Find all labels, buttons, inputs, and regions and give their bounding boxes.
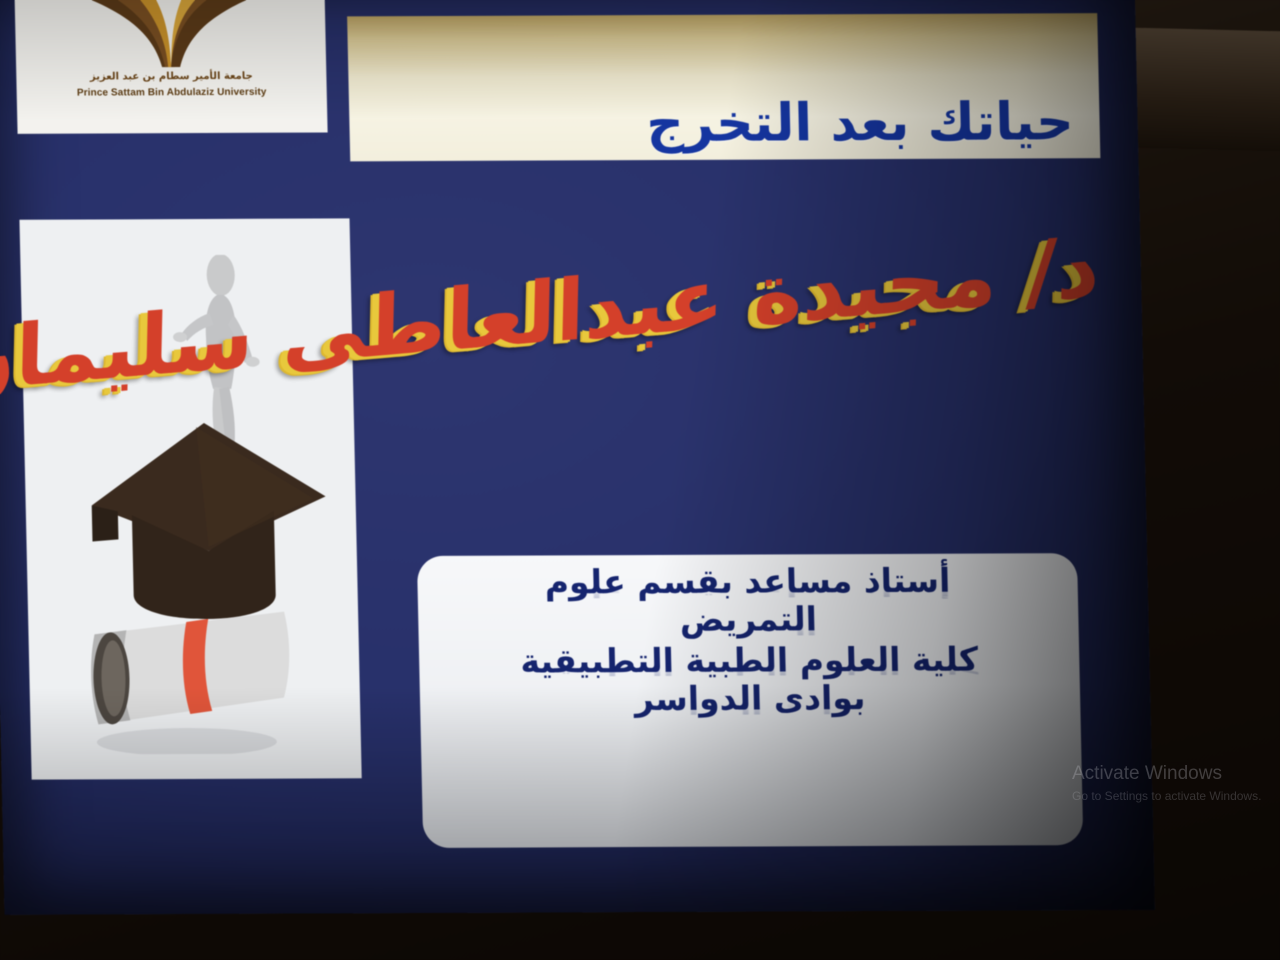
logo-arabic-name: جامعة الأمير سطام بن عبد العزيز	[16, 70, 326, 82]
fan-book-icon	[14, 0, 326, 68]
diploma-scroll-icon	[57, 573, 331, 754]
university-logo: جامعة الأمير سطام بن عبد العزيز Prince S…	[14, 0, 328, 134]
title-banner: حياتك بعد التخرج	[347, 13, 1100, 161]
logo-english-name: Prince Sattam Bin Abdulaziz University	[17, 86, 327, 98]
info-line-location: بوادى الدواسر	[442, 680, 1059, 717]
slide-title: حياتك بعد التخرج	[646, 92, 1075, 154]
slide-transform-wrapper: جامعة الأمير سطام بن عبد العزيز Prince S…	[0, 0, 1155, 930]
info-line-college: كلية العلوم الطبية التطبيقية	[441, 642, 1058, 679]
projected-slide-photo: جامعة الأمير سطام بن عبد العزيز Prince S…	[0, 0, 1280, 960]
presenter-name-wordart: د/ مجيدة عبدالعاطى سليمان	[419, 203, 1107, 546]
presenter-name: د/ مجيدة عبدالعاطى سليمان	[422, 220, 1101, 369]
info-line-department: التمريض	[440, 602, 1057, 639]
info-line-title: أستاذ مساعد بقسم علوم	[439, 563, 1056, 600]
presentation-slide: جامعة الأمير سطام بن عبد العزيز Prince S…	[0, 0, 1155, 915]
presenter-info-card: أستاذ مساعد بقسم علوم التمريض كلية العلو…	[417, 553, 1083, 848]
